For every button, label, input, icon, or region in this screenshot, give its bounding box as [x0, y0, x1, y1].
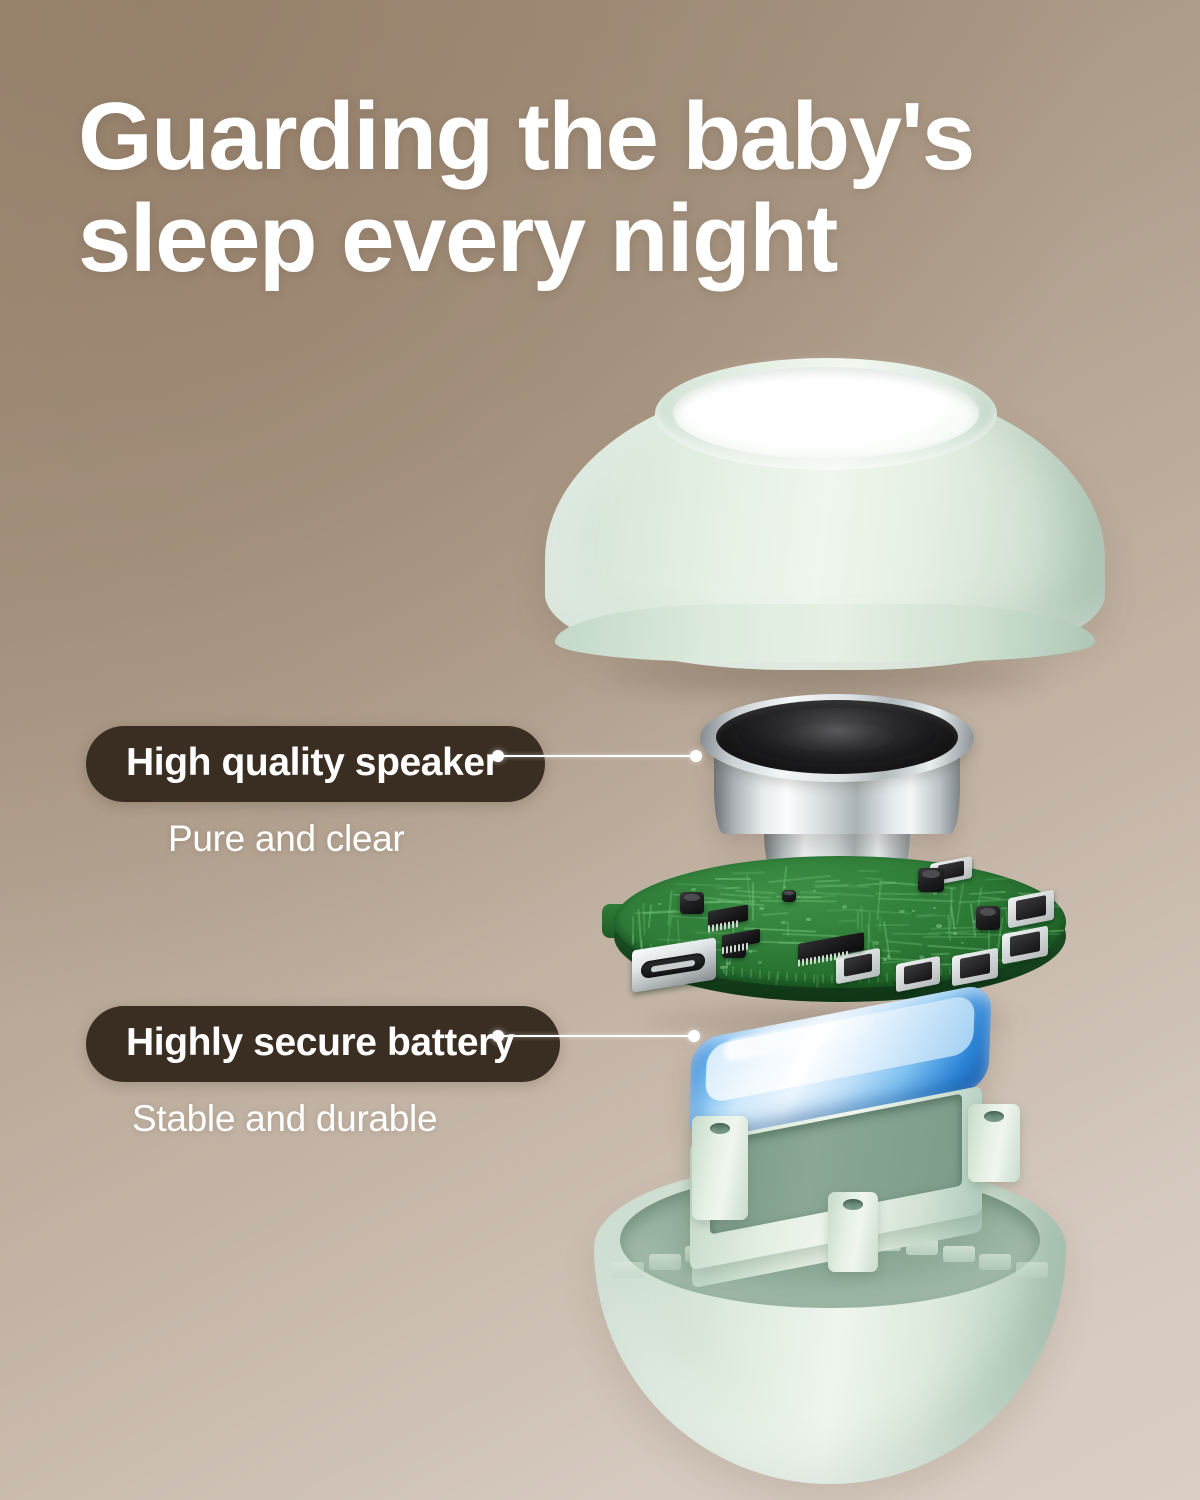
infographic-page: Guarding the baby's sleep every night [0, 0, 1200, 1500]
circuit-board [600, 846, 1078, 1022]
callout-speaker-title[interactable]: High quality speaker [86, 726, 545, 802]
leader-dot-start [492, 1030, 504, 1042]
leader-line-battery [492, 1030, 700, 1042]
callout-speaker-subtitle: Pure and clear [86, 818, 545, 860]
leader-dot-end [690, 750, 702, 762]
leader-bar [498, 1035, 694, 1037]
callout-speaker: High quality speaker Pure and clear [86, 726, 545, 860]
screw-hole-left [710, 1123, 730, 1134]
capacitor [680, 892, 704, 914]
leader-dot-start [492, 750, 504, 762]
dome-rim [555, 604, 1095, 662]
leader-bar [498, 755, 696, 757]
leader-dot-end [688, 1030, 700, 1042]
callout-battery-title[interactable]: Highly secure battery [86, 1006, 560, 1082]
capacitor [918, 868, 944, 892]
screw-post-right [968, 1104, 1020, 1182]
capacitor [976, 906, 1000, 930]
bottom-housing [570, 1096, 1090, 1486]
top-dome-cover [545, 352, 1105, 682]
small-capacitor [782, 890, 796, 902]
callout-battery: Highly secure battery Stable and durable [86, 1006, 560, 1140]
screw-post-center [828, 1192, 878, 1272]
leader-line-speaker [492, 750, 702, 762]
callout-battery-subtitle: Stable and durable [86, 1098, 560, 1140]
screw-hole-center [843, 1199, 863, 1210]
speaker-dust-cap [780, 722, 894, 752]
light-diffuser [673, 367, 979, 459]
screw-post-left [692, 1116, 748, 1220]
screw-hole-right [984, 1111, 1004, 1122]
